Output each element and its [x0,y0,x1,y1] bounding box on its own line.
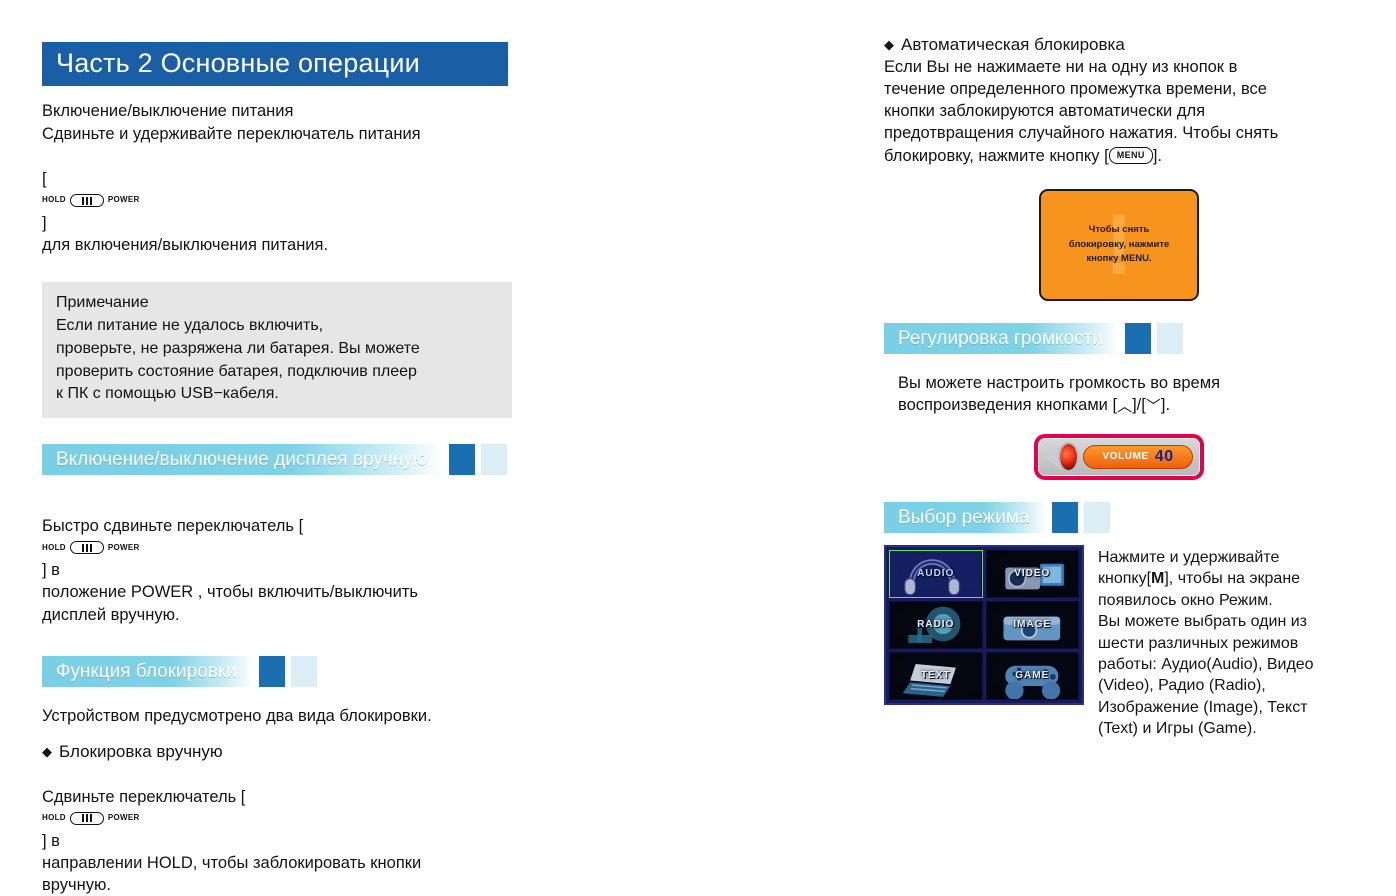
display-section-line1-post: ] в [42,561,60,579]
section-header-bar: Регулировка громкости [884,323,1119,354]
menu-button-icon: MENU [1109,147,1153,164]
section-header-volume: Регулировка громкости [884,323,1354,354]
mode-select-lcd: AUDIO VIDEO [884,545,1084,705]
manual-lock-line1: Сдвиньте переключатель [ HOLD POWER ] в [42,764,522,852]
volume-value: 40 [1155,449,1174,465]
manual-lock-heading-label: Блокировка вручную [59,741,223,763]
mode-tile-label: TEXT [921,670,951,681]
section-header-label: Регулировка громкости [898,329,1103,348]
menu-button-label: MENU [1117,149,1145,161]
note-title: Примечание [56,292,498,315]
mode-tile-text[interactable]: TEXT [889,652,983,700]
note-body: Если питание не удалось включить, провер… [56,315,498,406]
volume-body-pre: Вы можете настроить громкость во время в… [898,374,1220,414]
volume-body-post: ]. [1161,396,1170,414]
volume-level-pill: VOLUME 40 [1083,445,1193,469]
accent-square-pale [1084,502,1110,533]
display-section-body: положение POWER , чтобы включить/выключи… [42,581,522,625]
auto-lock-heading-label: Автоматическая блокировка [901,34,1125,56]
section-header-lock-function: Функция блокировки [42,656,522,687]
mode-tile-video[interactable]: VIDEO [986,550,1080,598]
section-header-bar: Включение/выключение дисплея вручную [42,444,443,475]
mode-tile-label: RADIO [917,619,954,630]
auto-lock-heading: ◆ Автоматическая блокировка [884,34,1354,56]
section-header-mode-select: Выбор режима [884,502,1354,533]
switch-pill [70,812,104,825]
auto-lock-body-pre: Если Вы не нажимаете ни на одну из кнопо… [884,58,1278,164]
section-header-accents [1052,502,1110,533]
power-label: POWER [108,543,140,554]
diamond-bullet-icon: ◆ [884,38,894,51]
auto-lock-body-post: ]. [1153,147,1162,165]
section-header-bar: Функция блокировки [42,656,253,687]
bracket-close: ] [42,214,47,232]
mode-select-row: AUDIO VIDEO [884,545,1354,740]
manual-lock-line1-post: ] в [42,832,60,850]
mode-desc-key-post: ], чтобы на экране [1164,570,1300,587]
mode-tile-audio[interactable]: AUDIO [889,550,983,598]
mode-section-description: Нажмите и удерживайтекнопку[M], чтобы на… [1098,545,1314,740]
mode-tile-label: AUDIO [917,568,954,579]
accent-square-blue [449,444,475,475]
section-header-bar: Выбор режима [884,502,1046,533]
mode-desc-rest: появилось окно Режим. Вы можете выбрать … [1098,592,1314,738]
volume-section-body: Вы можете настроить громкость во время в… [884,372,1354,416]
volume-label: VOLUME [1102,451,1148,462]
section-header-accents [259,656,317,687]
lock-section-intro: Устройством предусмотрено два вида блоки… [42,705,522,728]
power-section-heading: Включение/выключение питания [42,100,522,123]
manual-lock-body: направлении HOLD, чтобы заблокировать кн… [42,852,522,896]
auto-lock-body: Если Вы не нажимаете ни на одну из кнопо… [884,56,1354,167]
accent-square-blue [1125,323,1151,354]
accent-square-pale [291,656,317,687]
speaker-icon [1045,441,1079,473]
mode-desc-key-pre: кнопку[ [1098,570,1151,587]
manual-lock-heading: ◆ Блокировка вручную [42,741,522,763]
note-box: Примечание Если питание не удалось включ… [42,282,512,418]
volume-down-key-icon: ﹀ [1146,398,1161,415]
speaker-driver [1058,442,1079,472]
switch-pill [70,194,104,207]
section-header-accents [1125,323,1183,354]
section-header-label: Выбор режима [898,508,1030,527]
volume-body-mid: ]/[ [1132,396,1146,414]
left-column: Часть 2 Основные операции Включение/выкл… [42,42,522,896]
mode-key-m-label: M [1151,570,1164,587]
lcd-lock-popup: ! Чтобы снять блокировку, нажмите кнопку… [1039,189,1199,301]
power-section-line2-text: для включения/выключения питания. [42,236,328,254]
manual-lock-line1-pre: Сдвиньте переключатель [ [42,788,245,806]
hold-label: HOLD [42,195,66,206]
manual-page: Часть 2 Основные операции Включение/выкл… [0,0,1396,781]
volume-up-key-icon: ︿ [1117,398,1132,415]
display-section-line1: Быстро сдвиньте переключатель [ HOLD POW… [42,493,522,581]
accent-square-pale [1157,323,1183,354]
volume-widget-wrapper: VOLUME 40 [884,434,1354,480]
mode-desc-line1: Нажмите и удерживайте [1098,549,1279,566]
hold-label: HOLD [42,543,66,554]
part-title-bar: Часть 2 Основные операции [42,42,508,86]
lcd-popup-wrapper: ! Чтобы снять блокировку, нажмите кнопку… [884,189,1354,301]
power-section-line2: [ HOLD POWER ] для включения/выключения … [42,146,522,257]
lcd-popup-text: Чтобы снять блокировку, нажмите кнопку M… [1069,223,1170,266]
accent-square-blue [1052,502,1078,533]
section-header-label: Включение/выключение дисплея вручную [56,450,427,469]
display-section-line1-pre: Быстро сдвиньте переключатель [ [42,517,303,535]
section-header-display-toggle: Включение/выключение дисплея вручную [42,444,522,475]
accent-square-blue [259,656,285,687]
power-label: POWER [108,195,140,206]
power-label: POWER [108,813,140,824]
mode-tile-label: VIDEO [1014,568,1050,579]
volume-osd-widget: VOLUME 40 [1034,434,1204,480]
section-header-accents [449,444,507,475]
accent-square-pale [481,444,507,475]
mode-tile-label: GAME [1015,670,1049,681]
mode-tile-label: IMAGE [1013,619,1051,630]
mode-tile-image[interactable]: IMAGE [986,601,1080,649]
bracket-open: [ [42,170,47,188]
hold-label: HOLD [42,813,66,824]
mode-tile-game[interactable]: GAME [986,652,1080,700]
hold-power-switch-icon: HOLD POWER [42,812,140,825]
right-column: ◆ Автоматическая блокировка Если Вы не н… [884,34,1354,740]
section-header-label: Функция блокировки [56,662,237,681]
power-section-line1: Сдвиньте и удерживайте переключатель пит… [42,123,522,146]
hold-power-switch-icon: HOLD POWER [42,541,140,554]
switch-pill [70,541,104,554]
mode-tile-radio[interactable]: RADIO [889,601,983,649]
hold-power-switch-icon: HOLD POWER [42,194,140,207]
diamond-bullet-icon: ◆ [42,745,52,758]
